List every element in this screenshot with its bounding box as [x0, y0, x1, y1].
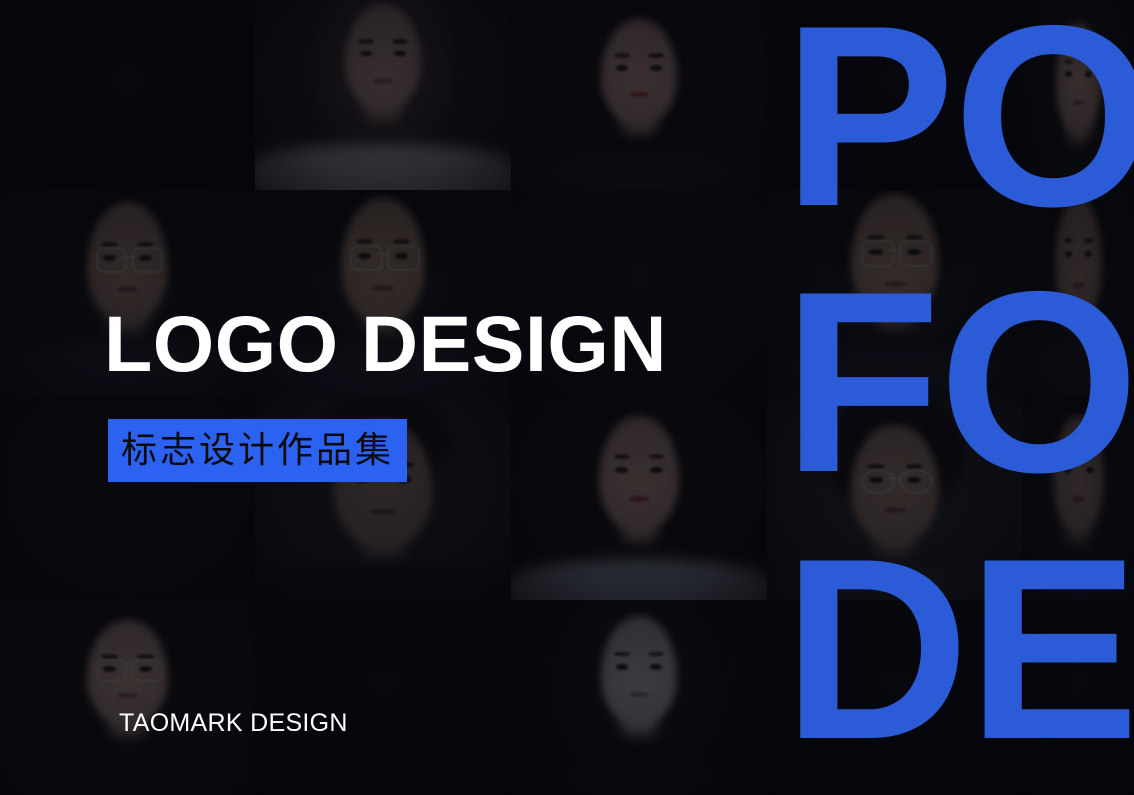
text-overlay: LOGO DESIGN 标志设计作品集 TAOMARK DESIGN: [0, 0, 1134, 795]
poster-canvas: PO FO DE LOGO DESIGN 标志设计作品集 TAOMARK DES…: [0, 0, 1134, 795]
brand-name: TAOMARK DESIGN: [119, 709, 348, 738]
subtitle-text: 标志设计作品集: [121, 433, 394, 469]
page-title: LOGO DESIGN: [104, 304, 667, 383]
subtitle-badge: 标志设计作品集: [108, 419, 407, 482]
